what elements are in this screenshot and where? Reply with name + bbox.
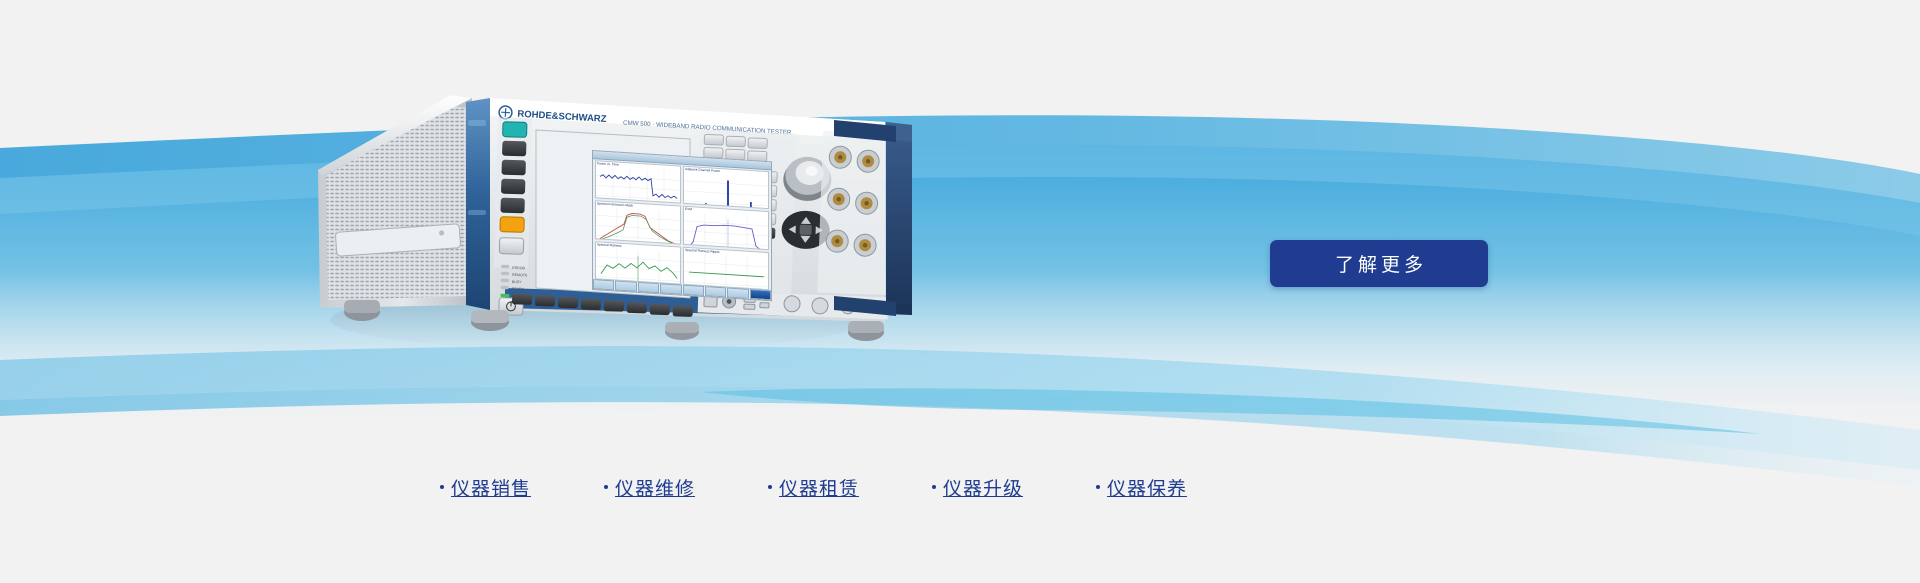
led-label-ready: READY [512,287,525,291]
dot-bullet-icon [768,485,772,489]
keypad-block[interactable] [695,130,796,293]
wave-device-tail [700,388,1760,434]
print-key [502,141,526,157]
nav-item-label: 仪器维修 [615,474,695,501]
rf-connector-bank[interactable] [817,131,895,296]
led-label-remote: REMOTE [512,273,528,277]
nav-item-instrument-repair[interactable]: 仪器维修 [604,474,768,501]
dot-bullet-icon [604,485,608,489]
preset-key [503,122,527,138]
lan-port [704,295,717,307]
usb-port-3 [760,303,769,308]
led-label-busy: BUSY [512,280,522,284]
nav-item-label: 仪器销售 [451,474,531,501]
display-bezel [536,130,690,298]
hero-banner: 了解更多 [0,0,1920,583]
usb-port-2 [744,304,755,309]
wave-second-ribbon [0,145,1920,236]
rf-a-in [784,296,801,313]
nav-item-label: 仪器升级 [943,474,1023,501]
nav-item-instrument-sales[interactable]: 仪器销售 [440,474,604,501]
wave-top-ribbon [0,115,1920,203]
print2-key [500,198,524,214]
chassis-left-panel [318,95,472,308]
usb-port-1 [744,297,755,302]
nav-item-label: 仪器保养 [1107,474,1187,501]
sys-key [499,238,523,255]
instrument-svg: ROHDE&SCHWARZ CMW 500 · WIDEBAND RADIO C… [300,60,920,360]
rf-b-in [812,298,829,315]
dot-bullet-icon [1096,485,1100,489]
led-label-error: ERROR [512,266,525,270]
setup-key [501,179,525,195]
nav-item-instrument-upgrade[interactable]: 仪器升级 [932,474,1096,501]
dot-bullet-icon [932,485,936,489]
learn-more-button[interactable]: 了解更多 [1270,240,1488,287]
nav-item-label: 仪器租赁 [779,474,859,501]
dot-bullet-icon [440,485,444,489]
instrument-image-cmw500: ROHDE&SCHWARZ CMW 500 · WIDEBAND RADIO C… [300,60,920,360]
nav-item-instrument-maintenance[interactable]: 仪器保养 [1096,474,1260,501]
wave-main-body [0,137,1920,434]
save-rcl-key [502,160,526,176]
front-panel-blue-frame [466,98,490,310]
service-links-row: 仪器销售 仪器维修 仪器租赁 仪器升级 仪器保养 [440,472,1260,502]
wave-lower-sweep [0,346,1920,470]
nav-item-instrument-rental[interactable]: 仪器租赁 [768,474,932,501]
help-key [500,217,524,233]
